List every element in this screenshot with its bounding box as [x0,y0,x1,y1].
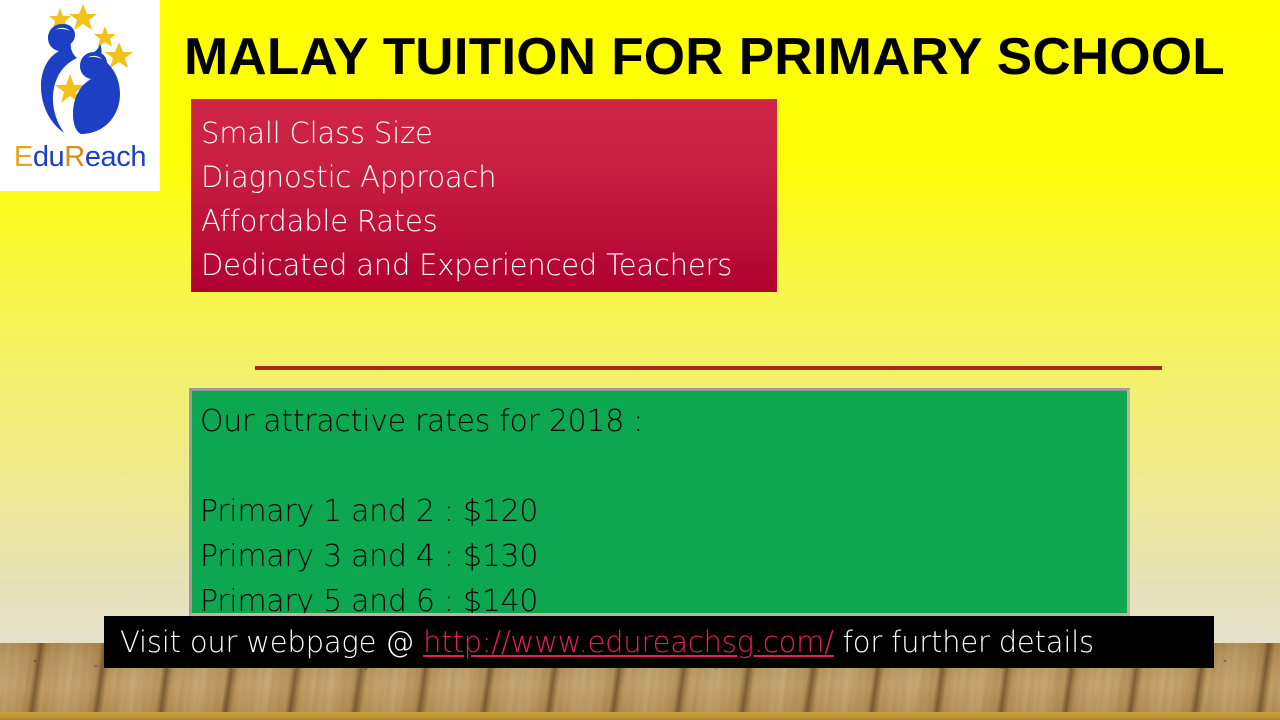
features-box: Small Class Size Diagnostic Approach Aff… [191,99,777,292]
wordmark-part-r: R [64,141,85,173]
wordmark-part-each: each [85,141,146,173]
feature-item: Dedicated and Experienced Teachers [201,243,777,287]
rate-item: Primary 5 and 6 : $140 [200,579,1127,616]
rate-item: Primary 1 and 2 : $120 [200,489,1127,534]
footer-prefix: Visit our webpage @ [120,625,423,659]
footer-banner: Visit our webpage @ http://www.edureachs… [104,616,1214,668]
footer-suffix: for further details [834,625,1094,659]
logo-panel: EduReach [0,0,160,191]
wordmark-part-du: du [33,141,64,173]
horizontal-divider [255,366,1162,370]
feature-item: Diagnostic Approach [201,155,777,199]
wordmark-part-e: E [14,141,33,173]
footer-text: Visit our webpage @ http://www.edureachs… [120,625,1094,659]
rate-item: Primary 3 and 4 : $130 [200,534,1127,579]
floor-base-strip [0,712,1280,720]
slide-canvas: EduReach MALAY TUITION FOR PRIMARY SCHOO… [0,0,1280,720]
edureach-logo-icon [24,2,142,134]
edureach-wordmark: EduReach [0,141,160,174]
feature-item: Affordable Rates [201,199,777,243]
rates-box: Our attractive rates for 2018 : Primary … [189,388,1130,616]
website-link[interactable]: http://www.edureachsg.com/ [423,625,834,659]
feature-item: Small Class Size [201,111,777,155]
page-title: MALAY TUITION FOR PRIMARY SCHOOL [184,26,1265,88]
rates-heading: Our attractive rates for 2018 : [200,399,1127,444]
rates-spacer [200,444,1127,489]
